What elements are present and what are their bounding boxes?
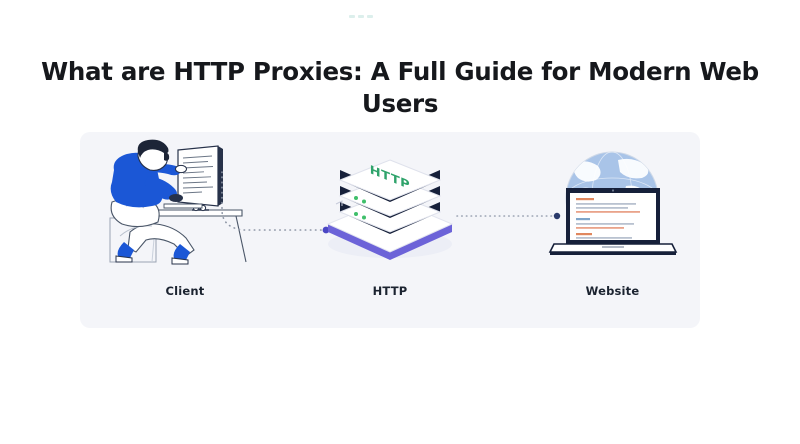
node-label-http: HTTP [310,284,470,298]
marker-dash-2 [358,15,364,18]
diagram-node-website: Website [530,132,695,328]
node-label-website: Website [530,284,695,298]
person-at-desk-icon [90,140,280,268]
globe-laptop-icon [530,140,695,268]
server-stack-icon: HTTP [310,140,470,268]
diagram-panel: Client [80,132,700,328]
diagram-node-client: Client [90,132,280,328]
diagram-node-http: HTTP HTTP [310,132,470,328]
marker-dash-3 [367,15,373,18]
page-root: What are HTTP Proxies: A Full Guide for … [0,0,800,444]
faint-logo-marker [344,10,378,22]
page-title: What are HTTP Proxies: A Full Guide for … [0,56,800,120]
node-label-client: Client [90,284,280,298]
marker-dash-1 [349,15,355,18]
